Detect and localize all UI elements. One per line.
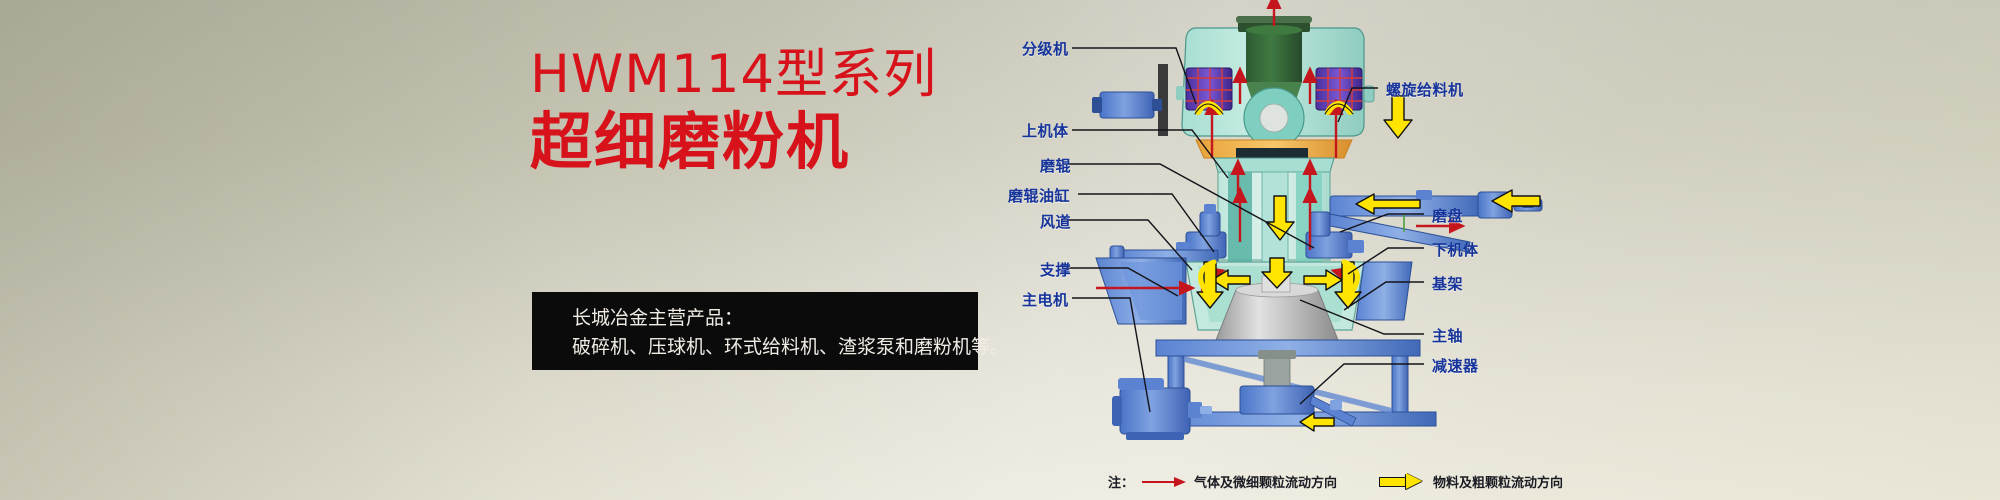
promo-line-1: 长城冶金主营产品： <box>572 304 978 333</box>
legend-item-2: 物料及粗颗粒流动方向 <box>1433 472 1563 491</box>
label-upper-body: 上机体 <box>1022 120 1069 141</box>
promo-banner: HWM114型系列 超细磨粉机 长城冶金主营产品： 破碎机、压球机、环式给料机、… <box>0 0 2000 500</box>
label-air-duct: 风道 <box>1040 211 1071 232</box>
headline-block: HWM114型系列 超细磨粉机 <box>530 48 1000 173</box>
label-main-shaft: 主轴 <box>1432 325 1463 346</box>
promo-line-2: 破碎机、压球机、环式给料机、渣浆泵和磨粉机等。 <box>572 333 978 362</box>
label-lower-body: 下机体 <box>1432 239 1479 260</box>
red-arrow-icon <box>1142 477 1186 487</box>
label-classifier: 分级机 <box>1022 38 1069 59</box>
label-main-motor: 主电机 <box>1022 289 1069 310</box>
legend-prefix: 注： <box>1108 472 1134 491</box>
label-reducer: 减速器 <box>1432 355 1479 376</box>
headline-line-2: 超细磨粉机 <box>530 111 1000 173</box>
headline-line-1: HWM114型系列 <box>530 48 1000 101</box>
label-grinding-roller: 磨辊 <box>1040 155 1071 176</box>
legend-item-1: 气体及微细颗粒流动方向 <box>1194 472 1337 491</box>
flow-legend: 注： 气体及微细颗粒流动方向 物料及粗颗粒流动方向 <box>1108 472 1563 491</box>
machine-cutaway-diagram: 分级机 上机体 磨辊 磨辊油缸 风道 支撑 主电机 螺旋给料机 磨盘 下机体 基… <box>1000 0 2000 500</box>
machine-illustration <box>1000 0 2000 500</box>
label-support: 支撑 <box>1040 259 1071 280</box>
label-screw-feeder: 螺旋给料机 <box>1386 79 1464 100</box>
label-frame: 基架 <box>1432 273 1463 294</box>
label-roller-cylinder: 磨辊油缸 <box>1008 185 1070 206</box>
promo-text-box: 长城冶金主营产品： 破碎机、压球机、环式给料机、渣浆泵和磨粉机等。 <box>532 292 978 370</box>
label-grinding-table: 磨盘 <box>1432 205 1463 226</box>
yellow-arrow-icon <box>1379 474 1425 490</box>
